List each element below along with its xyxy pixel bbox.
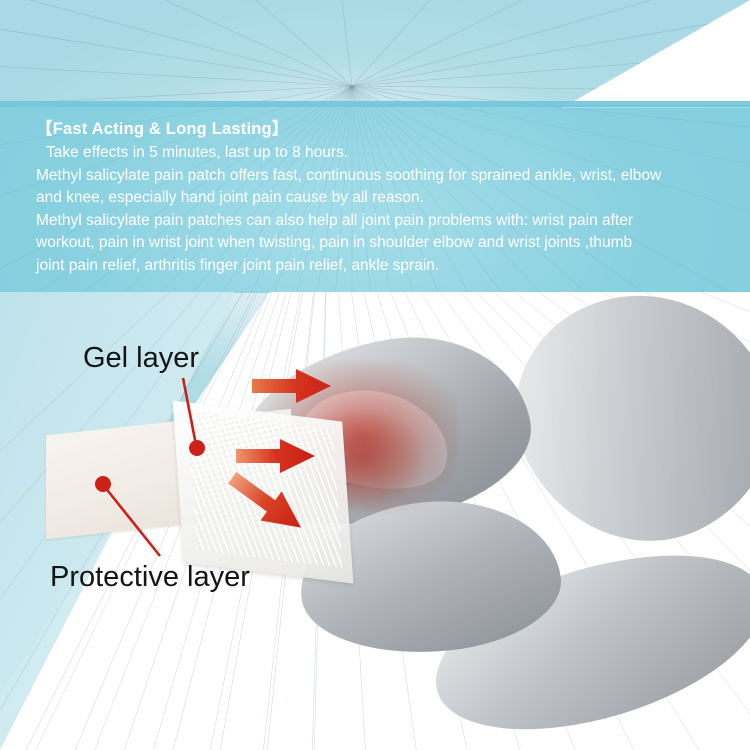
hero-line-5: workout, pain in wrist joint when twisti… xyxy=(36,232,720,255)
pain-arrow-right-top xyxy=(252,368,332,404)
callout-label-protective-layer: Protective layer xyxy=(50,563,250,592)
product-infographic: 【Fast Acting & Long Lasting】 Take effect… xyxy=(0,0,750,750)
hero-line-6: joint pain relief, arthritis finger join… xyxy=(36,255,720,278)
hero-line-4: Methyl salicylate pain patches can also … xyxy=(36,210,720,233)
hero-line-2: Methyl salicylate pain patch offers fast… xyxy=(36,165,720,188)
callout-label-gel-layer: Gel layer xyxy=(83,344,199,373)
hero-line-1: Take effects in 5 minutes, last up to 8 … xyxy=(36,142,720,165)
hero-line-3: and knee, especially hand joint pain cau… xyxy=(36,187,720,210)
hero-text-panel: 【Fast Acting & Long Lasting】 Take effect… xyxy=(0,105,750,293)
hero-title: 【Fast Acting & Long Lasting】 xyxy=(36,115,720,139)
